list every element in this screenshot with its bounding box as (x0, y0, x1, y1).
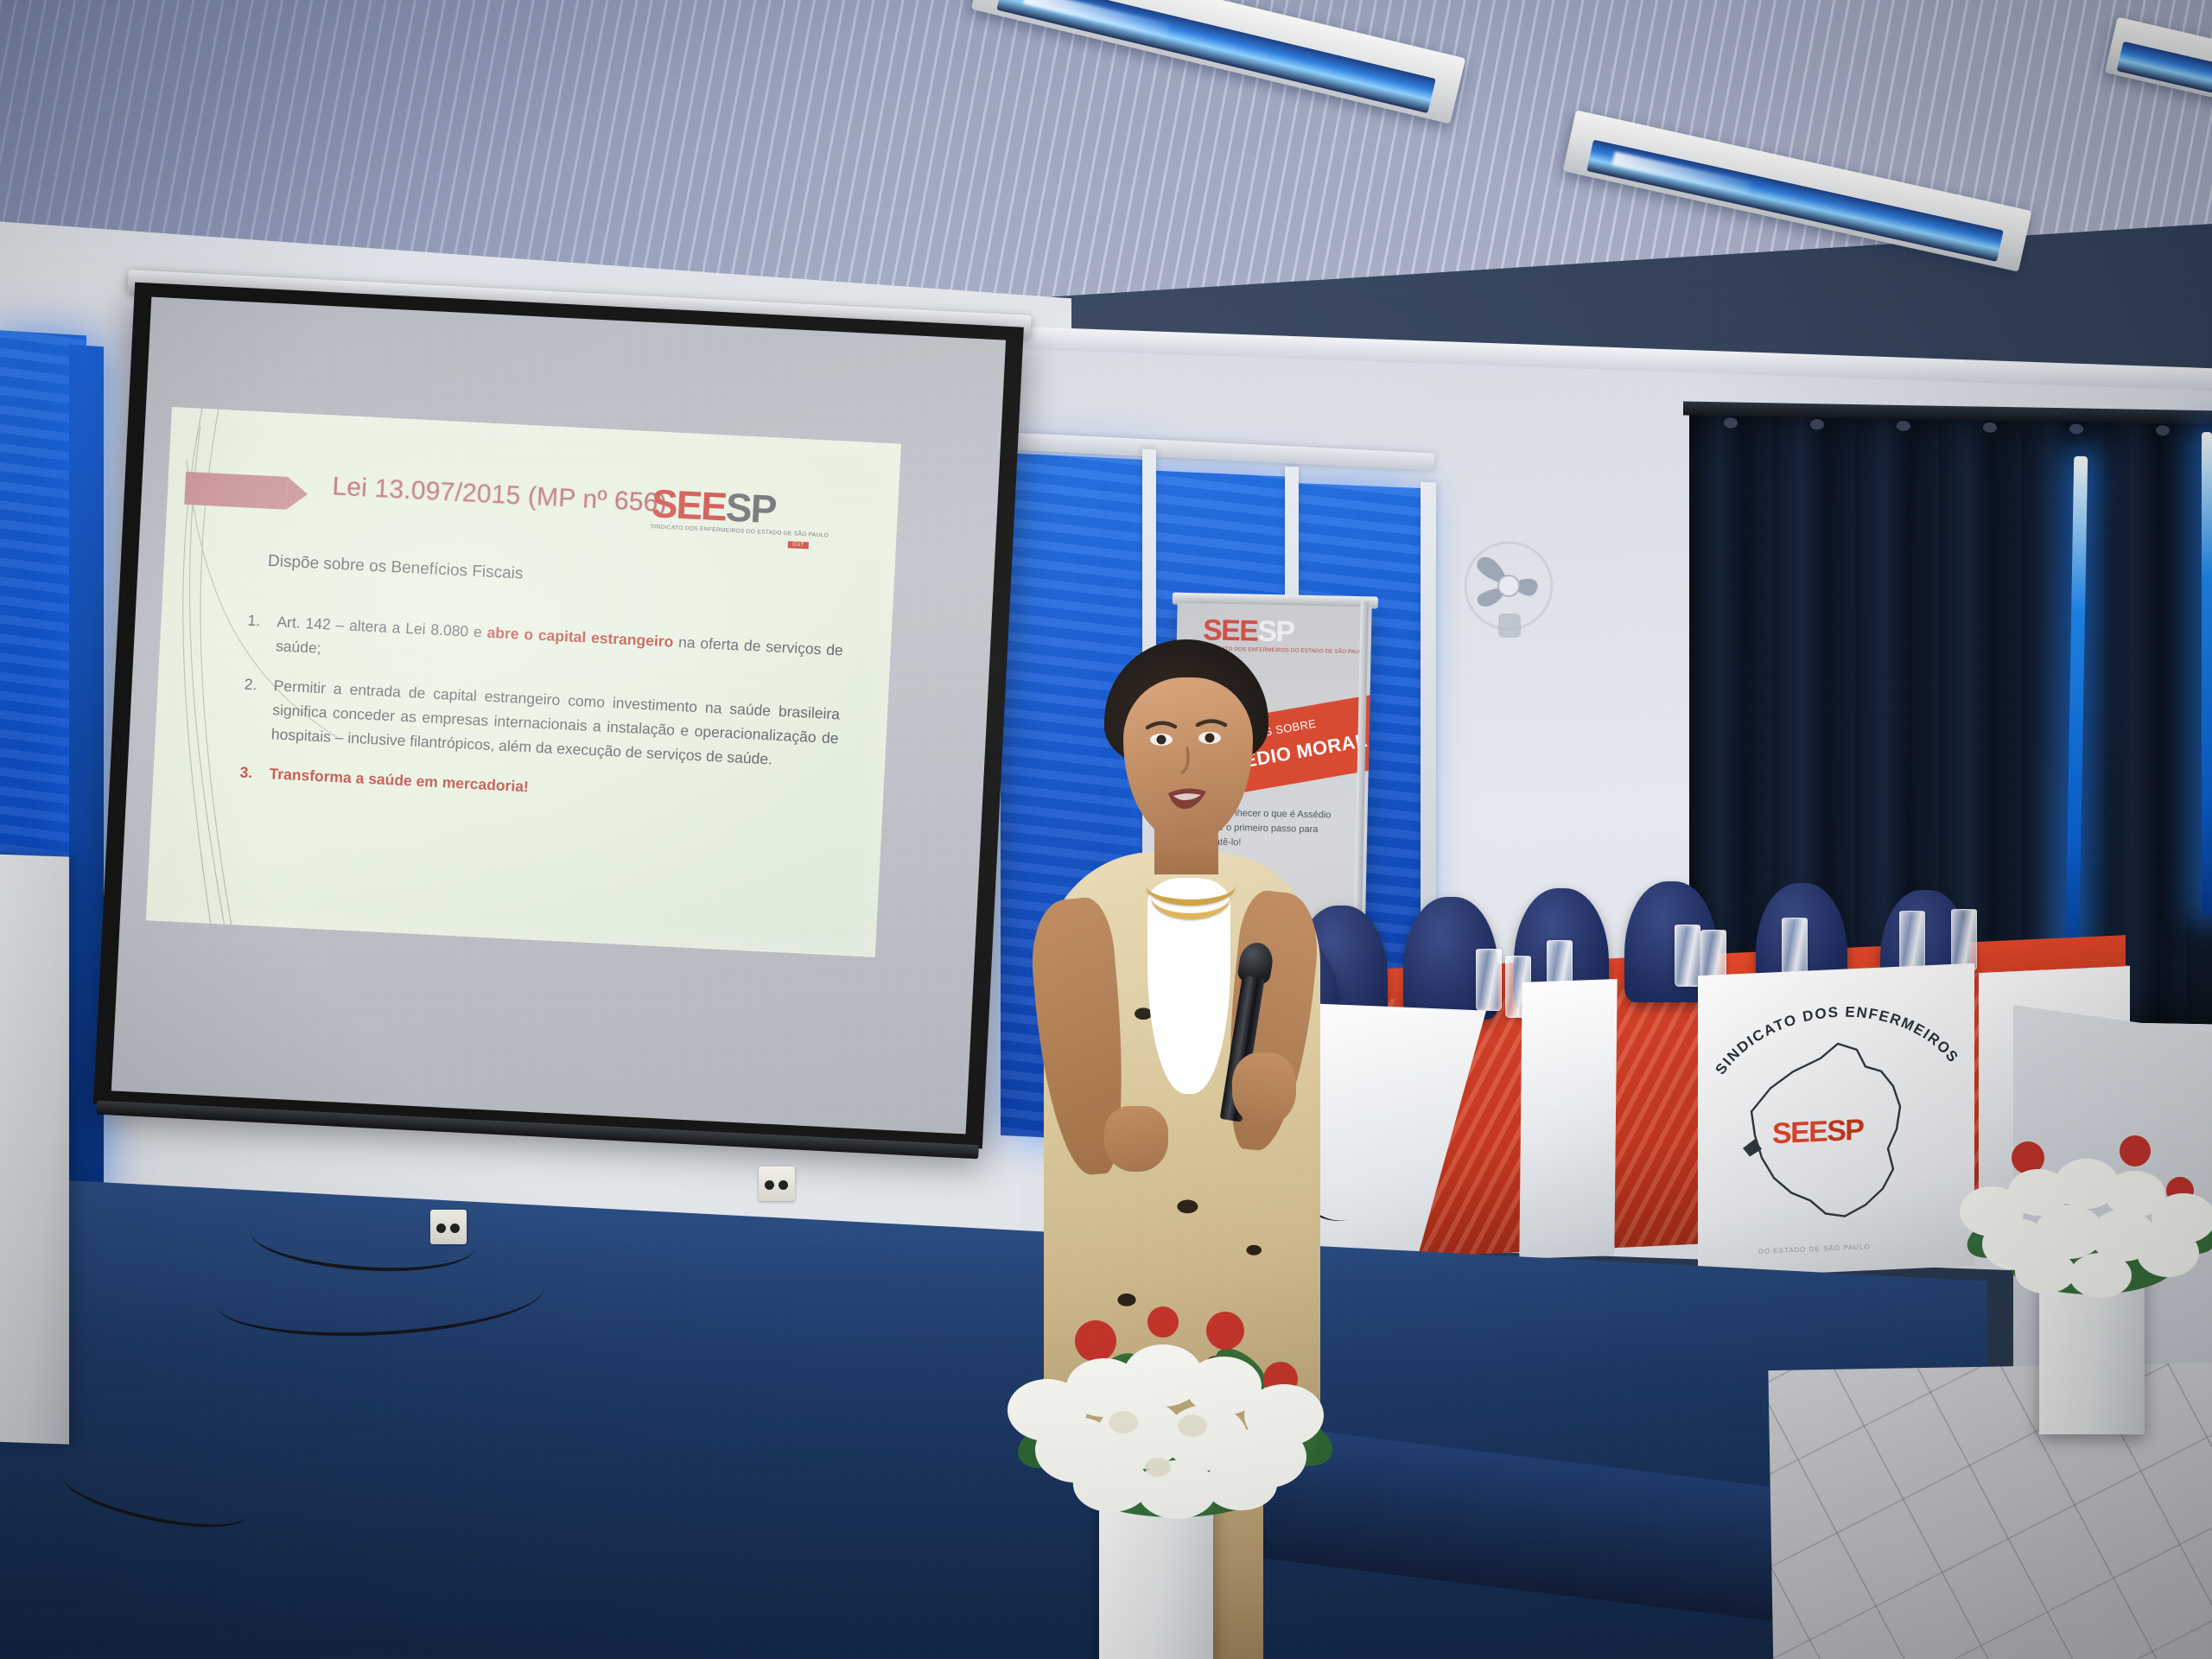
water-glass (1951, 909, 1977, 971)
projection-screen: Lei 13.097/2015 (MP nº 656) SEESP SINDIC… (91, 283, 1024, 1199)
table-banner-logo: SEESP (1772, 1117, 1863, 1147)
tile-floor (1768, 1360, 2212, 1659)
water-glass (1899, 911, 1925, 973)
list-item-highlight: abre o capital estrangeiro (486, 624, 674, 651)
slide-list-item: 2. Permitir a entrada de capital estrang… (241, 671, 840, 775)
slide-subtitle: Dispõe sobre os Benefícios Fiscais (267, 552, 523, 584)
table-banner-logo-accent: SP (1827, 1114, 1863, 1148)
list-item-number: 3. (239, 760, 270, 785)
lectern (0, 854, 69, 1444)
conference-photo-scene: Lei 13.097/2015 (MP nº 656) SEESP SINDIC… (0, 0, 2212, 1659)
curtain-grommet (1724, 417, 1738, 428)
water-glass (1675, 925, 1700, 987)
speaker-left-hand (1104, 1106, 1168, 1172)
outlet-socket (765, 1180, 774, 1190)
flower-arrangement-right (1948, 1123, 2212, 1313)
water-glass (1476, 949, 1502, 1011)
table-banner-footer: DO ESTADO DE SÃO PAULO (1758, 1243, 1871, 1255)
seesp-logo-accent: SP (725, 485, 777, 532)
list-item-number: 2. (241, 671, 274, 747)
table-banner-logo-main: SEE (1772, 1115, 1827, 1150)
list-item-text: Art. 142 – altera a Lei 8.080 e abre o c… (275, 609, 843, 687)
curtain-grommet (2069, 423, 2083, 434)
slide-list: 1. Art. 142 – altera a Lei 8.080 e abre … (238, 608, 843, 829)
wall-power-outlet-2 (759, 1166, 795, 1201)
cut-badge: CUT (788, 542, 809, 550)
screen-frame: Lei 13.097/2015 (MP nº 656) SEESP SINDIC… (93, 283, 1024, 1149)
wall-fan-icon (1452, 532, 1566, 646)
slide-list-item: 1. Art. 142 – altera a Lei 8.080 e abre … (245, 608, 843, 688)
slide-arrow-shape (184, 472, 288, 510)
curtain-grommet (2156, 425, 2170, 435)
curtain-grommet (1810, 419, 1824, 429)
flower-arrangement-front (994, 1296, 1357, 1547)
slide-title: Lei 13.097/2015 (MP nº 656) (332, 472, 668, 518)
seesp-logo-main: SEE (651, 480, 728, 529)
speaker-facial-features (1123, 677, 1253, 840)
blue-led-strip-2 (2202, 432, 2212, 916)
outlet-socket (779, 1180, 788, 1190)
curtain-grommet (1983, 423, 1997, 433)
speaker-face (1123, 677, 1253, 840)
table-banner-cloth: SINDICATO DOS ENFERMEIROS SEESP DO ESTAD… (1698, 963, 1974, 1279)
curtain-grommet (1897, 421, 1910, 431)
speaker-necklace-inner (1151, 874, 1230, 919)
list-item-text-before: Art. 142 – altera a Lei 8.080 e (276, 613, 487, 640)
seesp-logo: SEESP SINDICATO DOS ENFERMEIROS DO ESTAD… (649, 485, 811, 567)
list-item-text: Permitir a entrada de capital estrangeir… (270, 673, 840, 775)
projected-slide: Lei 13.097/2015 (MP nº 656) SEESP SINDIC… (146, 407, 901, 957)
table-overlay-cloth-middle (1519, 979, 1617, 1259)
list-item-number: 1. (245, 608, 277, 658)
screen-surface: Lei 13.097/2015 (MP nº 656) SEESP SINDIC… (111, 297, 1006, 1135)
seesp-logo-word: SEESP (651, 485, 811, 530)
speaker-right-hand (1232, 1052, 1296, 1125)
